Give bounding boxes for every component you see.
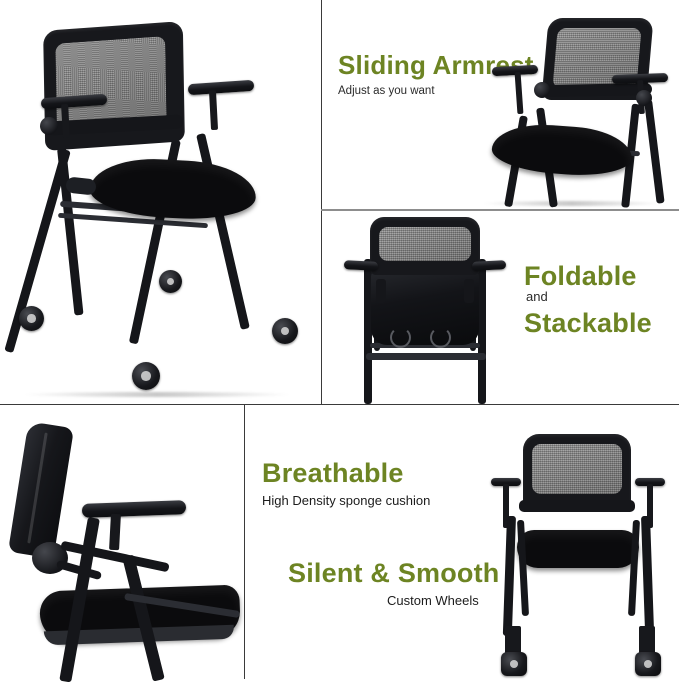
panel-sliding-armrest: Sliding Armrest Adjust as you want [322, 0, 679, 209]
front-chair-backrest-mesh [532, 444, 622, 494]
side-detail-armrest-pad [82, 500, 186, 518]
foldable-conjunction: and [526, 289, 548, 304]
hero-caster-front-left [132, 362, 160, 390]
folded-chair-image [330, 215, 520, 404]
armrest-chair-hinge [534, 82, 550, 98]
folded-chair-left-arm-pad [344, 260, 378, 271]
armrest-chair-rear-right-leg [644, 100, 665, 204]
folded-chair-right-hook [430, 327, 451, 348]
folded-chair-right-bracket [464, 279, 474, 303]
folded-chair-backrest-mesh [379, 227, 471, 261]
hero-right-armrest-stem [209, 90, 218, 130]
front-chair-back-rail [519, 500, 635, 512]
folded-chair-lower-rail [366, 353, 486, 360]
hero-caster-rear-right [159, 270, 182, 293]
stackable-headline: Stackable [524, 308, 652, 339]
front-chair-left-leg [503, 516, 516, 636]
panel-breathable-wheels: Breathable High Density sponge cushion S… [245, 406, 679, 679]
side-detail-backrest [8, 421, 74, 559]
armrest-chair-left-arm-stem [515, 72, 524, 114]
side-detail-armrest-stem [109, 514, 121, 550]
front-chair-caster-right [635, 652, 661, 676]
front-chair-image [483, 420, 679, 679]
folded-chair-right-arm-pad [472, 260, 506, 271]
folded-chair-left-hook [390, 327, 411, 348]
product-infographic: Sliding Armrest Adjust as you want [0, 0, 679, 679]
armrest-chair-hinge-right [636, 90, 652, 106]
front-chair-caster-left [501, 652, 527, 676]
armrest-chair-image [472, 8, 679, 208]
silent-smooth-subline: Custom Wheels [387, 593, 479, 608]
sliding-armrest-subline: Adjust as you want [338, 85, 435, 97]
folded-chair-left-bracket [376, 279, 386, 303]
front-chair-seat-cushion [517, 530, 639, 568]
front-chair-right-leg [641, 516, 654, 636]
hero-caster-rear-left [19, 306, 44, 331]
silent-smooth-headline: Silent & Smooth [288, 558, 500, 589]
breathable-headline: Breathable [262, 458, 404, 489]
side-detail-image [0, 406, 244, 679]
folded-chair-seat-underside [371, 269, 479, 345]
breathable-subline: High Density sponge cushion [262, 493, 430, 508]
hero-left-hinge-knuckle [40, 117, 58, 135]
hero-ground-shadow [22, 392, 292, 397]
hero-caster-front-right [272, 318, 298, 344]
hero-seat-hinge [65, 176, 97, 195]
panel-foldable-stackable: Foldable and Stackable [322, 211, 679, 404]
foldable-headline: Foldable [524, 261, 637, 292]
hero-chair-image [0, 0, 321, 404]
divider-horizontal-middle [0, 404, 679, 405]
hero-seat-cushion [89, 156, 258, 223]
folded-chair-right-leg [478, 259, 486, 404]
hero-right-armrest-pad [188, 80, 255, 96]
